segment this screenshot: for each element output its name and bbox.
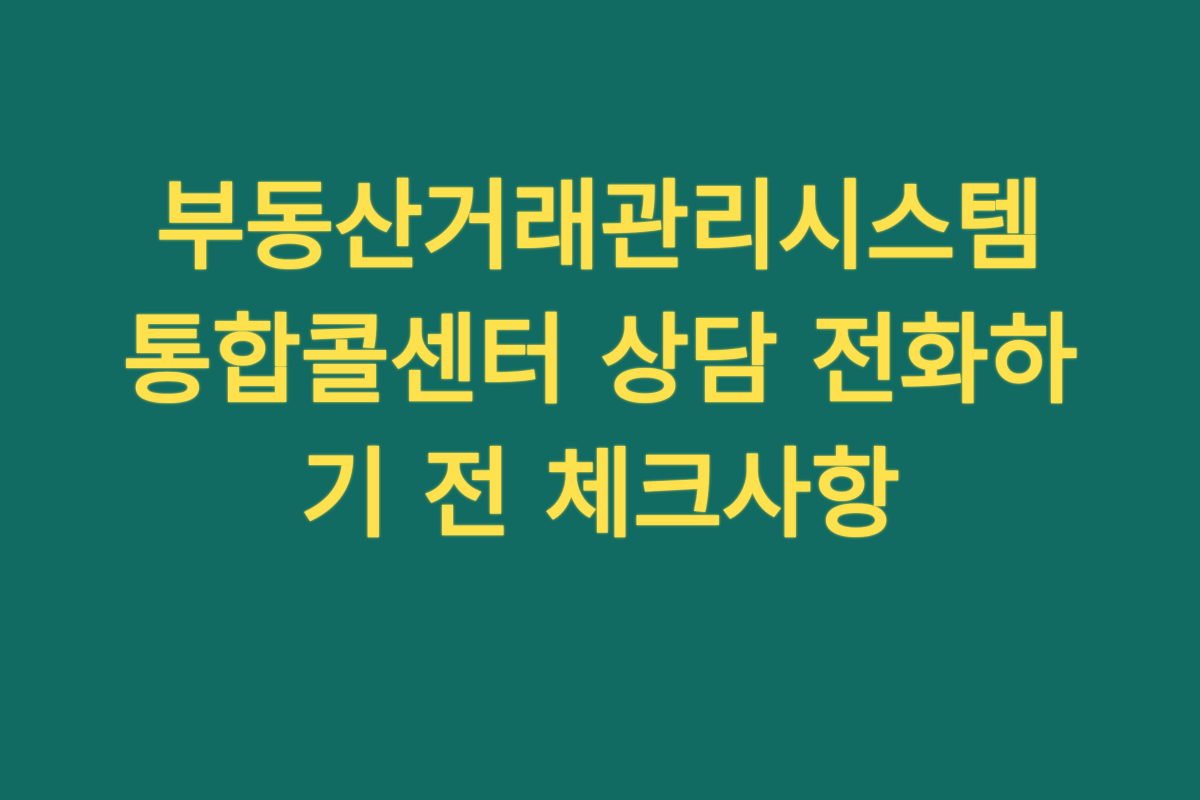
page-title: 부동산거래관리시스템 통합콜센터 상담 전화하 기 전 체크사항 [60,160,1140,562]
title-line-1: 부동산거래관리시스템 [60,160,1140,294]
title-line-3: 기 전 체크사항 [60,428,1140,562]
banner-card: 부동산거래관리시스템 통합콜센터 상담 전화하 기 전 체크사항 [0,0,1200,800]
title-line-2: 통합콜센터 상담 전화하 [60,294,1140,428]
